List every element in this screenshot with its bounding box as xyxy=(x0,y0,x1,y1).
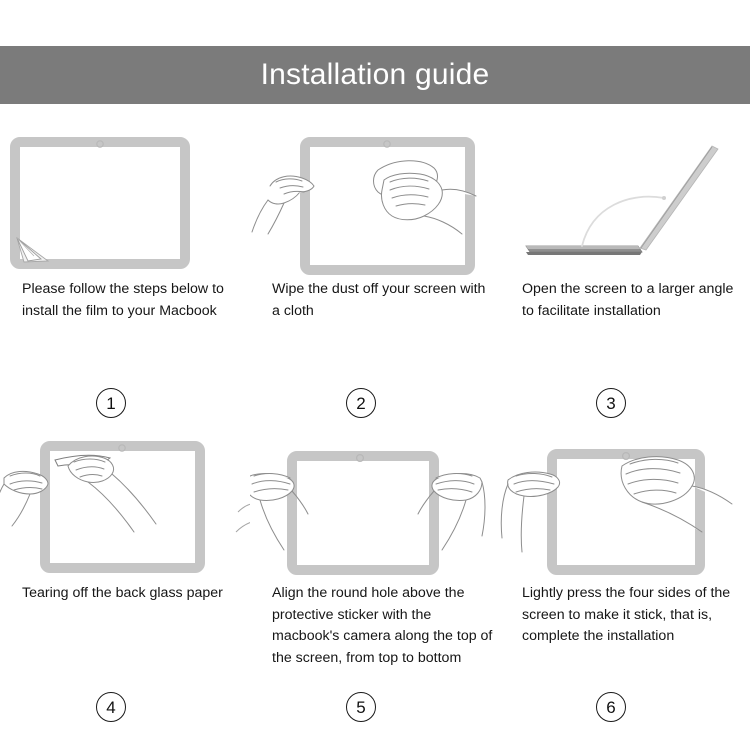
step-illustration-3 xyxy=(500,128,750,276)
hands-tearing-back-paper-icon xyxy=(0,432,250,580)
step-badge-row-2: 2 xyxy=(250,388,500,432)
laptop-open-angle-icon xyxy=(500,128,750,276)
step-badge-row-1: 1 xyxy=(0,388,250,432)
step-illustration-2 xyxy=(250,128,500,276)
step-caption-1: Please follow the steps below to install… xyxy=(0,276,250,388)
step-caption-6: Lightly press the four sides of the scre… xyxy=(500,580,750,692)
step-badge-row-5: 5 xyxy=(250,692,500,736)
step-number-badge-1: 1 xyxy=(96,388,126,418)
step-cell-3: Open the screen to a larger angle to fac… xyxy=(500,128,750,432)
step-number-badge-5: 5 xyxy=(346,692,376,722)
step-number-badge-2: 2 xyxy=(346,388,376,418)
step-caption-4: Tearing off the back glass paper xyxy=(0,580,250,692)
step-cell-5: Align the round hole above the protectiv… xyxy=(250,432,500,736)
step-caption-3: Open the screen to a larger angle to fac… xyxy=(500,276,750,388)
two-hands-aligning-film-icon xyxy=(250,432,500,580)
hand-pressing-film-icon xyxy=(500,432,750,580)
steps-row-1: Please follow the steps below to install… xyxy=(0,128,750,432)
step-cell-4: Tearing off the back glass paper 4 xyxy=(0,432,250,736)
step-illustration-4 xyxy=(0,432,250,580)
step-badge-row-6: 6 xyxy=(500,692,750,736)
header-bar: Installation guide xyxy=(0,46,750,104)
tablet-with-peeling-film-icon xyxy=(0,128,250,276)
step-cell-6: Lightly press the four sides of the scre… xyxy=(500,432,750,736)
step-number-badge-3: 3 xyxy=(596,388,626,418)
step-badge-row-4: 4 xyxy=(0,692,250,736)
page-title: Installation guide xyxy=(261,60,490,90)
step-illustration-1 xyxy=(0,128,250,276)
steps-row-2: Tearing off the back glass paper 4 xyxy=(0,432,750,736)
step-caption-2: Wipe the dust off your screen with a clo… xyxy=(250,276,500,388)
step-number-badge-6: 6 xyxy=(596,692,626,722)
step-illustration-6 xyxy=(500,432,750,580)
step-number-badge-4: 4 xyxy=(96,692,126,722)
step-cell-1: Please follow the steps below to install… xyxy=(0,128,250,432)
step-illustration-5 xyxy=(250,432,500,580)
step-cell-2: Wipe the dust off your screen with a clo… xyxy=(250,128,500,432)
step-caption-5: Align the round hole above the protectiv… xyxy=(250,580,500,692)
step-badge-row-3: 3 xyxy=(500,388,750,432)
steps-grid: Please follow the steps below to install… xyxy=(0,128,750,736)
hands-wiping-screen-icon xyxy=(250,128,500,276)
